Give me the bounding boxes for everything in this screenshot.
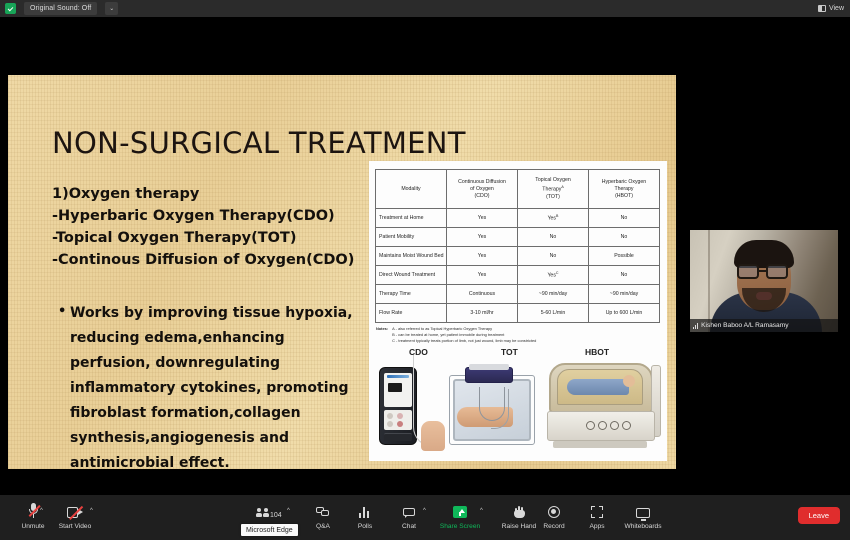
table-row: Maintains Moist Wound Bed Yes No Possibl… <box>376 247 660 266</box>
share-screen-button[interactable]: Share Screen <box>433 501 487 530</box>
top-bar: Original Sound: Off ⌄ View <box>0 0 850 17</box>
slide-line: -Continous Diffusion of Oxygen(CDO) <box>52 249 362 271</box>
hbot-chamber-image <box>545 361 661 453</box>
view-label: View <box>829 5 844 12</box>
speaker-glasses-bridge <box>759 270 766 272</box>
record-label: Record <box>543 523 564 530</box>
slide-paragraph: • Works by improving tissue hypoxia, red… <box>52 301 367 469</box>
note-b: B - can be treated at home, yet patient … <box>392 332 504 337</box>
th-cdo: Continuous Diffusion of Oxygen (CDO) <box>447 170 518 209</box>
table-header-row: Modality Continuous Diffusion of Oxygen … <box>376 170 660 209</box>
slide-title: NON-SURGICAL TREATMENT <box>52 126 466 160</box>
notes-label: Notes: <box>376 326 388 345</box>
speaker-glasses-right <box>766 264 788 279</box>
table-row: Treatment at Home Yes YesB No <box>376 209 660 228</box>
participant-name: Kishen Baboo A/L Ramasamy <box>701 322 788 329</box>
unmute-label: Unmute <box>21 523 44 530</box>
table-row: Patient Mobility Yes No No <box>376 228 660 247</box>
apps-icon <box>591 501 603 518</box>
layout-view-icon <box>818 5 826 12</box>
tot-device-image <box>447 365 537 449</box>
slide-line: 1)Oxygen therapy <box>52 183 362 205</box>
label-hbot: HBOT <box>585 347 609 357</box>
presentation-slide: NON-SURGICAL TREATMENT 1)Oxygen therapy … <box>8 75 676 469</box>
th-modality: Modality <box>376 170 447 209</box>
speaker-video-thumbnail[interactable]: Kishen Baboo A/L Ramasamy <box>690 230 838 332</box>
speaker-mouth <box>756 292 772 300</box>
th-hbot: Hyperbaric Oxygen Therapy (HBOT) <box>589 170 660 209</box>
share-chevron-up-icon[interactable]: ^ <box>480 508 483 514</box>
cdo-device-image <box>379 367 417 445</box>
whiteboards-button[interactable]: Whiteboards <box>616 501 670 530</box>
participant-name-bar: Kishen Baboo A/L Ramasamy <box>690 319 838 332</box>
share-screen-label: Share Screen <box>440 523 480 530</box>
table-footnotes: Notes: A - also referred to as Topical H… <box>376 326 656 345</box>
whiteboard-icon <box>636 501 650 518</box>
record-icon <box>548 501 560 518</box>
original-sound-button[interactable]: Original Sound: Off <box>24 2 97 15</box>
signal-bars-icon <box>693 323 698 329</box>
slide-paragraph-text: Works by improving tissue hypoxia, reduc… <box>52 301 367 469</box>
leave-button[interactable]: Leave <box>798 507 840 524</box>
th-tot: Topical Oxygen TherapyA (TOT) <box>518 170 589 209</box>
polls-label: Polls <box>358 523 372 530</box>
note-a: A - also referred to as Topical Hyperbar… <box>392 326 492 331</box>
slide-bullet-lines: 1)Oxygen therapy -Hyperbaric Oxygen Ther… <box>52 183 362 271</box>
whiteboards-label: Whiteboards <box>624 523 661 530</box>
table-row: Therapy Time Continuous ~90 min/day ~90 … <box>376 285 660 304</box>
label-tot: TOT <box>501 347 518 357</box>
chat-chevron-up-icon[interactable]: ^ <box>423 508 426 514</box>
polls-bars-icon <box>359 501 371 518</box>
device-images <box>369 357 667 461</box>
qa-label: Q&A <box>316 523 330 530</box>
apps-label: Apps <box>589 523 604 530</box>
notes-body: A - also referred to as Topical Hyperbar… <box>392 326 536 345</box>
modality-comparison-table: Modality Continuous Diffusion of Oxygen … <box>375 169 660 323</box>
chat-button[interactable]: Chat <box>382 501 436 530</box>
original-sound-chevron-down-icon[interactable]: ⌄ <box>105 2 118 15</box>
bullet-glyph: • <box>58 299 66 324</box>
chat-bubble-icon <box>403 501 415 518</box>
slide-line: -Topical Oxygen Therapy(TOT) <box>52 227 362 249</box>
slide-line: -Hyperbaric Oxygen Therapy(CDO) <box>52 205 362 227</box>
taskbar-tooltip: Microsoft Edge <box>241 524 298 536</box>
speaker-glasses-left <box>737 264 759 279</box>
participants-icon <box>256 501 270 518</box>
qa-bubbles-icon <box>316 501 330 518</box>
table-row: Direct Wound Treatment Yes YesC No <box>376 266 660 285</box>
chat-label: Chat <box>402 523 416 530</box>
cdo-foot-image <box>421 421 445 451</box>
table-row: Flow Rate 3-10 ml/hr 5-60 L/min Up to 60… <box>376 304 660 323</box>
view-button[interactable]: View <box>818 2 844 15</box>
start-video-label: Start Video <box>59 523 92 530</box>
note-c: C - treatment typically treats portion o… <box>392 338 536 343</box>
participant-count: 104 <box>270 512 282 519</box>
participants-chevron-up-icon[interactable]: ^ <box>287 508 290 514</box>
security-shield-icon <box>5 3 16 14</box>
share-screen-icon <box>453 501 467 518</box>
comparison-panel: Modality Continuous Diffusion of Oxygen … <box>369 161 667 461</box>
audio-chevron-up-icon[interactable]: ^ <box>40 508 43 514</box>
original-sound-label: Original Sound: Off <box>30 5 91 12</box>
microphone-muted-icon <box>29 501 38 518</box>
raise-hand-icon <box>514 501 525 518</box>
shared-screen-stage: NON-SURGICAL TREATMENT 1)Oxygen therapy … <box>0 17 850 495</box>
meeting-toolbar: Unmute ^ Start Video ^ 104 ^ Q&A Polls C… <box>0 495 850 540</box>
start-video-button[interactable]: Start Video <box>48 501 102 530</box>
video-chevron-up-icon[interactable]: ^ <box>90 508 93 514</box>
camera-off-icon <box>67 501 83 518</box>
